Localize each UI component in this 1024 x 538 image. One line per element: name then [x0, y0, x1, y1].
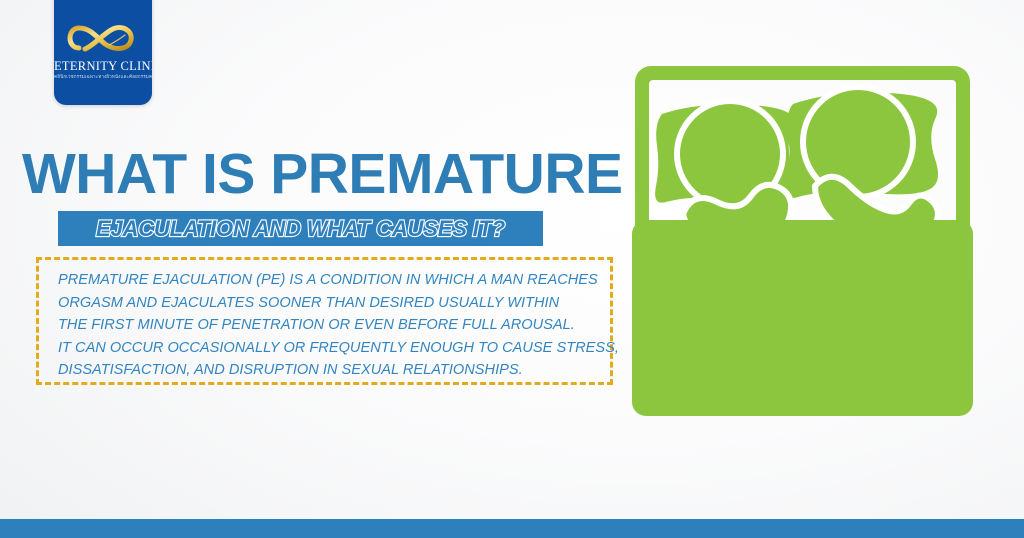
couple-in-bed-icon: [625, 58, 980, 423]
description-line: THE FIRST MINUTE OF PENETRATION OR EVEN …: [58, 314, 619, 337]
brand-name: ETERNITY CLINIC: [54, 60, 152, 73]
brand-thai-subtitle: คลินิกเวชกรรมเฉพาะทางผิวหนังและศัลยกรรมค…: [54, 74, 152, 80]
infinity-icon: [63, 18, 143, 58]
description-line: ORGASM AND EJACULATES SOONER THAN DESIRE…: [58, 292, 619, 315]
description-text: PREMATURE EJACULATION (PE) IS A CONDITIO…: [58, 269, 619, 382]
description-line: IT CAN OCCUR OCCASIONALLY OR FREQUENTLY …: [58, 337, 619, 360]
banner: ETERNITY CLINIC คลินิกเวชกรรมเฉพาะทางผิว…: [0, 0, 1024, 538]
description-line: PREMATURE EJACULATION (PE) IS A CONDITIO…: [58, 269, 619, 292]
subtitle-text: EJACULATION AND WHAT CAUSES IT?: [58, 217, 543, 241]
subtitle-bar: EJACULATION AND WHAT CAUSES IT?: [58, 211, 543, 246]
blanket-shape: [632, 220, 973, 416]
description-box: PREMATURE EJACULATION (PE) IS A CONDITIO…: [36, 257, 613, 385]
footer-bar: [0, 519, 1024, 538]
brand-logo[interactable]: ETERNITY CLINIC คลินิกเวชกรรมเฉพาะทางผิว…: [54, 0, 152, 105]
description-line: DISSATISFACTION, AND DISRUPTION IN SEXUA…: [58, 359, 619, 382]
page-title: WHAT IS PREMATURE: [22, 143, 623, 205]
